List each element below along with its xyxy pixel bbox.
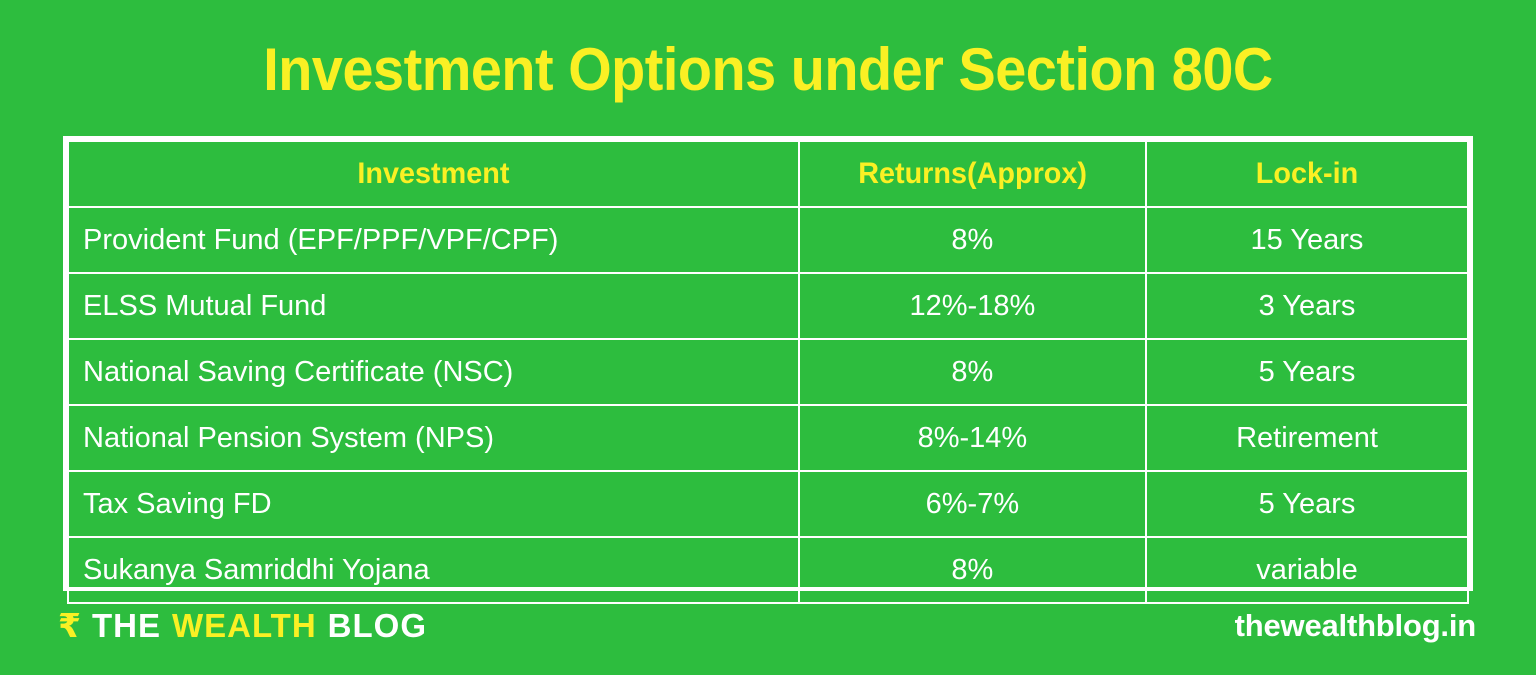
brand-word-the: THE bbox=[92, 605, 161, 647]
cell-investment: Tax Saving FD bbox=[68, 471, 799, 537]
table-header: Investment Returns(Approx) Lock-in bbox=[68, 141, 1468, 207]
cell-lockin: 5 Years bbox=[1146, 471, 1468, 537]
infographic-root: Investment Options under Section 80C Inv… bbox=[0, 0, 1536, 675]
brand-logo: ₹ THE WEALTH BLOG bbox=[58, 605, 427, 647]
table-row: National Pension System (NPS) 8%-14% Ret… bbox=[68, 405, 1468, 471]
cell-lockin: Retirement bbox=[1146, 405, 1468, 471]
table-header-row: Investment Returns(Approx) Lock-in bbox=[68, 141, 1468, 207]
table-row: Tax Saving FD 6%-7% 5 Years bbox=[68, 471, 1468, 537]
cell-returns: 8% bbox=[799, 339, 1146, 405]
table-row: Sukanya Samriddhi Yojana 8% variable bbox=[68, 537, 1468, 603]
table-body: Provident Fund (EPF/PPF/VPF/CPF) 8% 15 Y… bbox=[68, 207, 1468, 603]
site-url: thewealthblog.in bbox=[1235, 605, 1476, 647]
cell-returns: 8%-14% bbox=[799, 405, 1146, 471]
table-row: ELSS Mutual Fund 12%-18% 3 Years bbox=[68, 273, 1468, 339]
investment-table-container: Investment Returns(Approx) Lock-in Provi… bbox=[63, 136, 1473, 591]
cell-lockin: 5 Years bbox=[1146, 339, 1468, 405]
cell-returns: 8% bbox=[799, 207, 1146, 273]
cell-investment: National Pension System (NPS) bbox=[68, 405, 799, 471]
cell-returns: 8% bbox=[799, 537, 1146, 603]
footer: ₹ THE WEALTH BLOG thewealthblog.in bbox=[0, 605, 1536, 665]
cell-lockin: 15 Years bbox=[1146, 207, 1468, 273]
column-header-investment: Investment bbox=[83, 141, 785, 207]
table-row: National Saving Certificate (NSC) 8% 5 Y… bbox=[68, 339, 1468, 405]
cell-investment: Provident Fund (EPF/PPF/VPF/CPF) bbox=[68, 207, 799, 273]
brand-word-blog: BLOG bbox=[328, 605, 427, 647]
cell-investment: National Saving Certificate (NSC) bbox=[68, 339, 799, 405]
cell-lockin: variable bbox=[1146, 537, 1468, 603]
cell-lockin: 3 Years bbox=[1146, 273, 1468, 339]
cell-investment: Sukanya Samriddhi Yojana bbox=[68, 537, 799, 603]
column-header-lockin: Lock-in bbox=[1152, 141, 1461, 207]
column-header-returns: Returns(Approx) bbox=[806, 141, 1139, 207]
cell-returns: 12%-18% bbox=[799, 273, 1146, 339]
page-title: Investment Options under Section 80C bbox=[54, 38, 1482, 102]
brand-wordmark: THE WEALTH BLOG bbox=[92, 605, 427, 647]
brand-word-wealth: WEALTH bbox=[172, 605, 317, 647]
cell-investment: ELSS Mutual Fund bbox=[68, 273, 799, 339]
cell-returns: 6%-7% bbox=[799, 471, 1146, 537]
investment-table: Investment Returns(Approx) Lock-in Provi… bbox=[67, 140, 1469, 604]
rupee-icon: ₹ bbox=[58, 605, 82, 647]
table-row: Provident Fund (EPF/PPF/VPF/CPF) 8% 15 Y… bbox=[68, 207, 1468, 273]
